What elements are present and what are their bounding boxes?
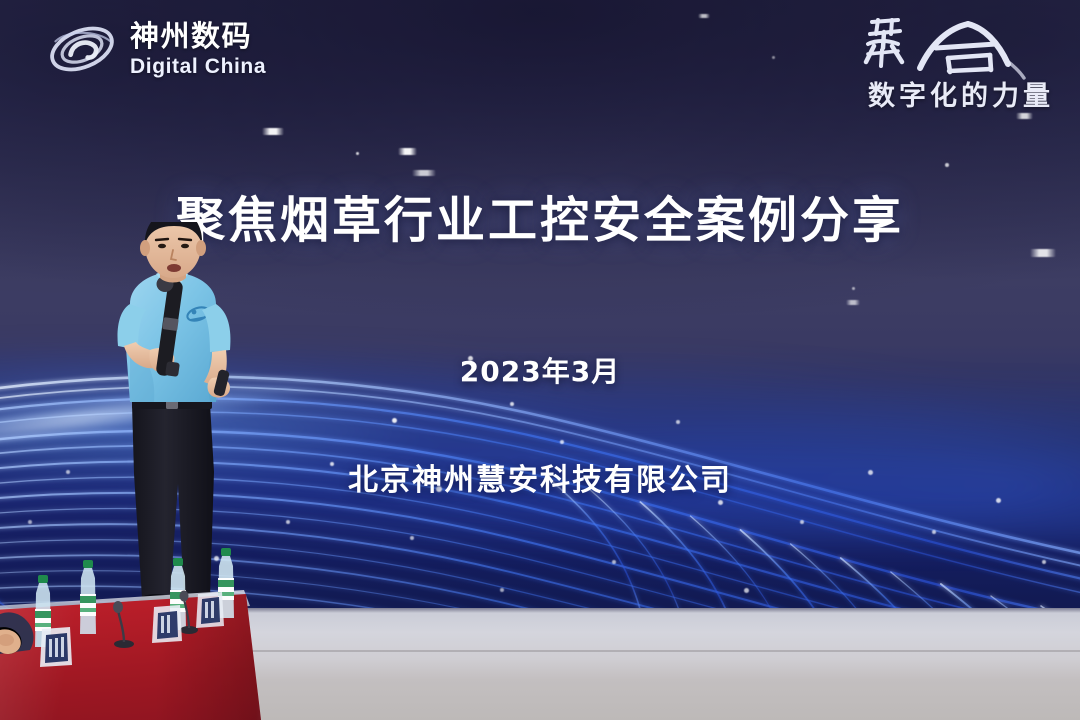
digital-china-logo: 神州数码 Digital China	[44, 18, 266, 80]
digital-china-chinese-name: 神州数码	[130, 22, 266, 51]
name-card	[40, 625, 74, 669]
digital-china-spiral-icon	[44, 18, 120, 80]
event-logo: 数字化的力量	[848, 14, 1058, 113]
conference-stage-photo: 神州数码 Digital China	[0, 0, 1080, 720]
water-bottle	[73, 560, 103, 640]
name-card	[196, 590, 226, 630]
event-tagline: 数字化的力量	[848, 74, 1054, 113]
desk-microphone	[112, 598, 136, 653]
name-card	[152, 603, 184, 645]
digital-china-english-name: Digital China	[130, 56, 266, 77]
juhe-calligraphy-icon	[848, 14, 1058, 76]
